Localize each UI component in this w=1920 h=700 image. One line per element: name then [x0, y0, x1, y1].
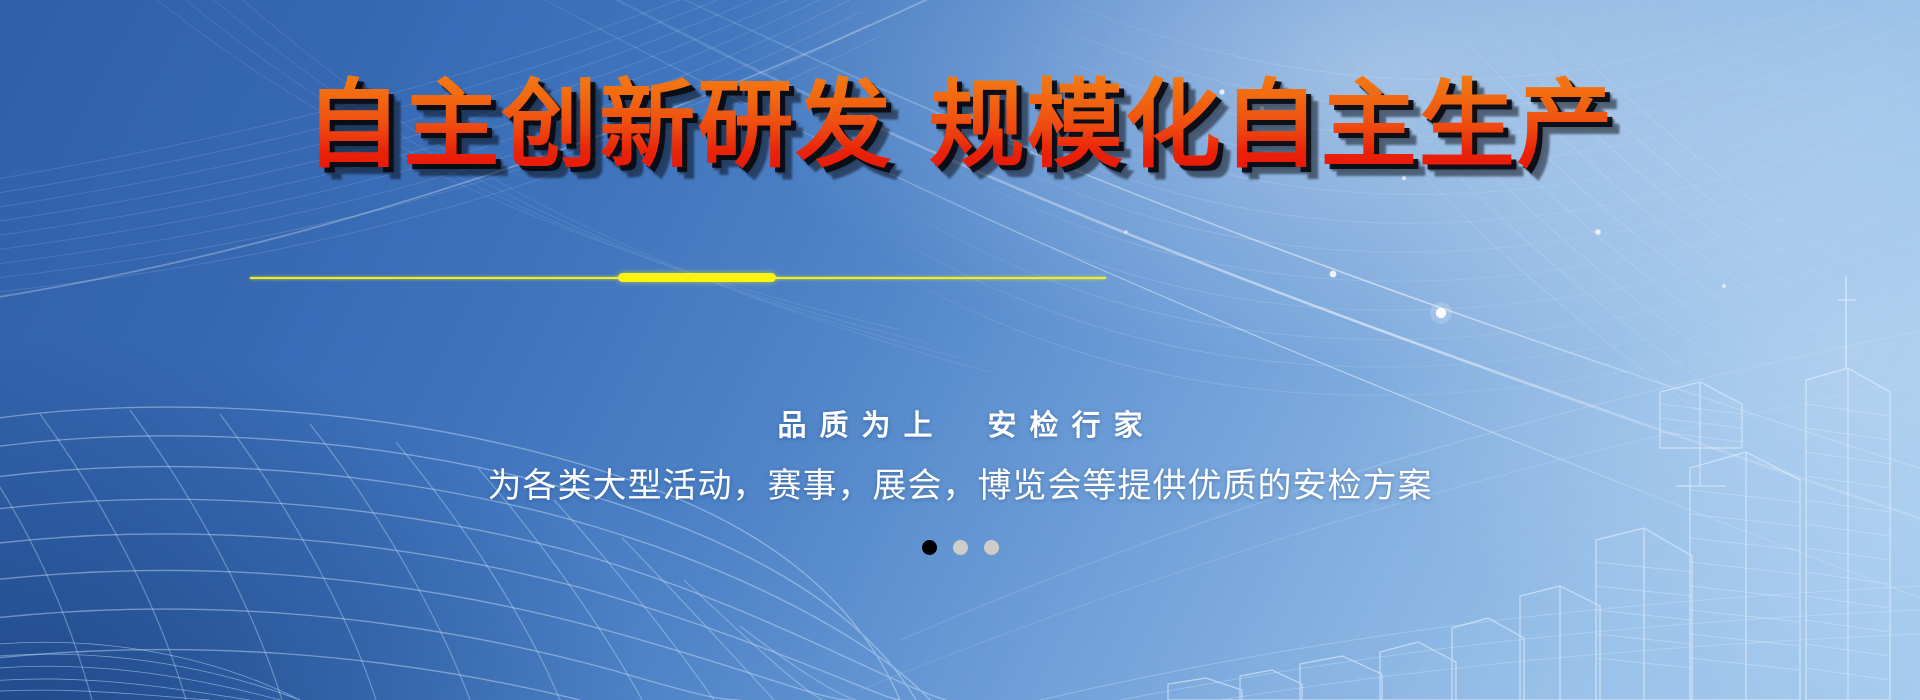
slogan-text: 品质为上 安检行家 — [0, 402, 1920, 444]
carousel-dot-2[interactable] — [953, 540, 968, 555]
tagline-text: 为各类大型活动，赛事，展会，博览会等提供优质的安检方案 — [0, 458, 1920, 507]
carousel-dot-3[interactable] — [984, 540, 999, 555]
page-title: 自主创新研发 规模化自主生产 — [0, 72, 1920, 180]
divider-rule-thick — [618, 273, 776, 282]
hero-banner: 自主创新研发 规模化自主生产 品质为上 安检行家 为各类大型活动，赛事，展会，博… — [0, 0, 1920, 700]
banner-content: 自主创新研发 规模化自主生产 品质为上 安检行家 为各类大型活动，赛事，展会，博… — [0, 0, 1920, 700]
carousel-dot-1[interactable] — [922, 540, 937, 555]
carousel-dots[interactable] — [0, 540, 1920, 555]
divider — [250, 270, 1106, 286]
